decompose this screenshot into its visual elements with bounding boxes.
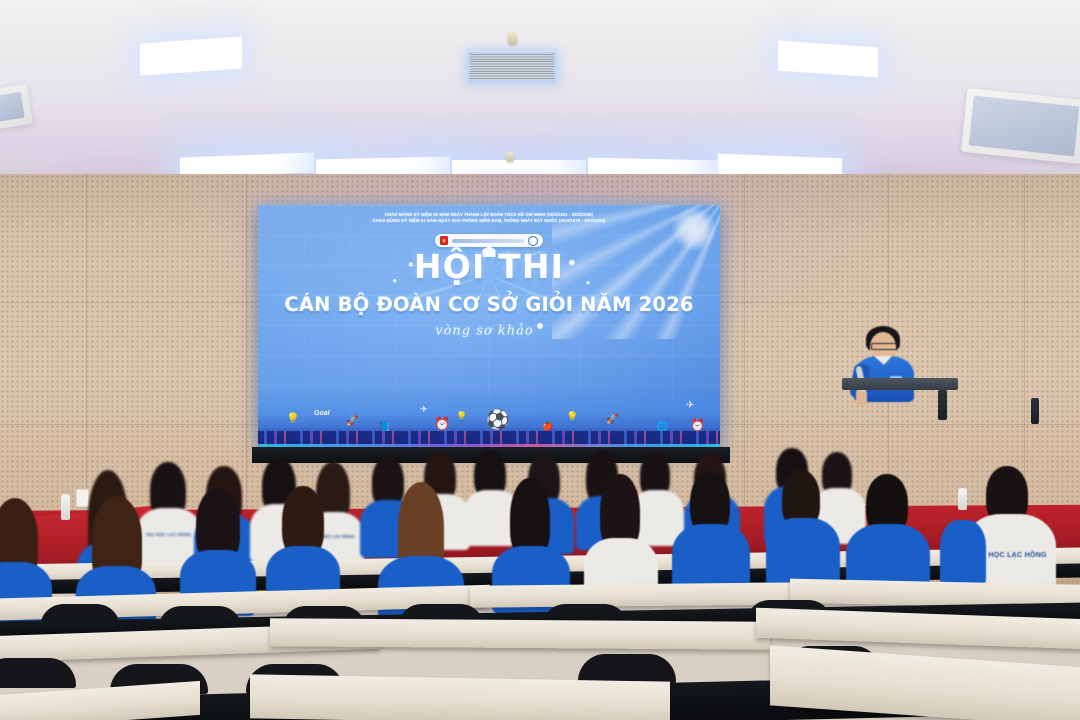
screen-round-label: vòng sơ khảo: [435, 323, 533, 338]
paper-plane-icon: ✈: [686, 401, 694, 411]
ac-vent-upper: [468, 52, 556, 82]
artwork-color-strip: [258, 444, 720, 447]
circle-logo-icon: [528, 236, 538, 246]
ceiling: [0, 0, 1080, 182]
speaker-glasses-icon: [871, 343, 897, 350]
ceiling-light-panel-2: [778, 41, 878, 78]
doan-tncs-logo-icon: [440, 236, 448, 245]
lecture-hall-photo: CHÀO MỪNG KỶ NIỆM 95 NĂM NGÀY THÀNH LẬP …: [0, 0, 1080, 720]
clock-icon: ⏰: [434, 417, 450, 430]
led-screen[interactable]: CHÀO MỪNG KỶ NIỆM 95 NĂM NGÀY THÀNH LẬP …: [258, 205, 720, 447]
apple-icon: 🍎: [542, 422, 553, 431]
shirt-text: ĐẠI HỌC LẠC HỒNG: [142, 532, 196, 537]
banner-line-2: CHÀO MỪNG KỶ NIỆM 51 NĂM NGÀY GIẢI PHÓNG…: [258, 218, 720, 224]
screen-title-block: HỘI THI: [258, 249, 720, 285]
logo-bar-text-placeholder: [452, 239, 524, 243]
chair-back: [0, 658, 76, 688]
screen-round-label-wrap: vòng sơ khảo: [258, 323, 720, 338]
rocket-icon: 🚀: [346, 417, 358, 427]
wall-switch-plate[interactable]: [76, 489, 89, 507]
screen-title: HỘI THI: [258, 249, 720, 285]
soccer-ball-icon: ⚽: [486, 411, 510, 430]
rocket-icon: 🚀: [606, 415, 618, 425]
clock-icon: ⏰: [690, 419, 705, 431]
water-bottle[interactable]: [61, 494, 70, 520]
lightbulb-icon: 💡: [286, 414, 300, 425]
sprinkler-head-upper: [508, 32, 517, 45]
desk-row-1-mid: [270, 618, 770, 649]
screen-artwork-band: 💡 💡 💡 🚀 🚀 ⚽ ⏰ ⏰ ✈ ✈ 🍎 📘 🌐 Goal: [258, 389, 720, 447]
water-bottle[interactable]: [958, 488, 967, 510]
screen-logo-bar: [435, 234, 543, 247]
lightbulb-icon: 💡: [456, 412, 467, 421]
lightbulb-icon: 💡: [566, 413, 578, 423]
desk-row-0-mid: [250, 674, 670, 720]
ac-unit-right: [961, 88, 1080, 164]
round-label-dot-icon: [537, 323, 543, 329]
ceiling-light-panel-1: [140, 36, 242, 75]
ac-unit-left: [0, 84, 33, 132]
screen-banner-lines: CHÀO MỪNG KỶ NIỆM 95 NĂM NGÀY THÀNH LẬP …: [258, 212, 720, 225]
wall-panel-box-right: [1031, 398, 1039, 424]
screen-subtitle: CÁN BỘ ĐOÀN CƠ SỞ GIỎI NĂM 2026: [258, 293, 720, 316]
paper-plane-icon: ✈: [420, 405, 428, 414]
artwork-goal-word: Goal: [314, 410, 330, 417]
sprinkler-head-lower: [506, 152, 514, 162]
